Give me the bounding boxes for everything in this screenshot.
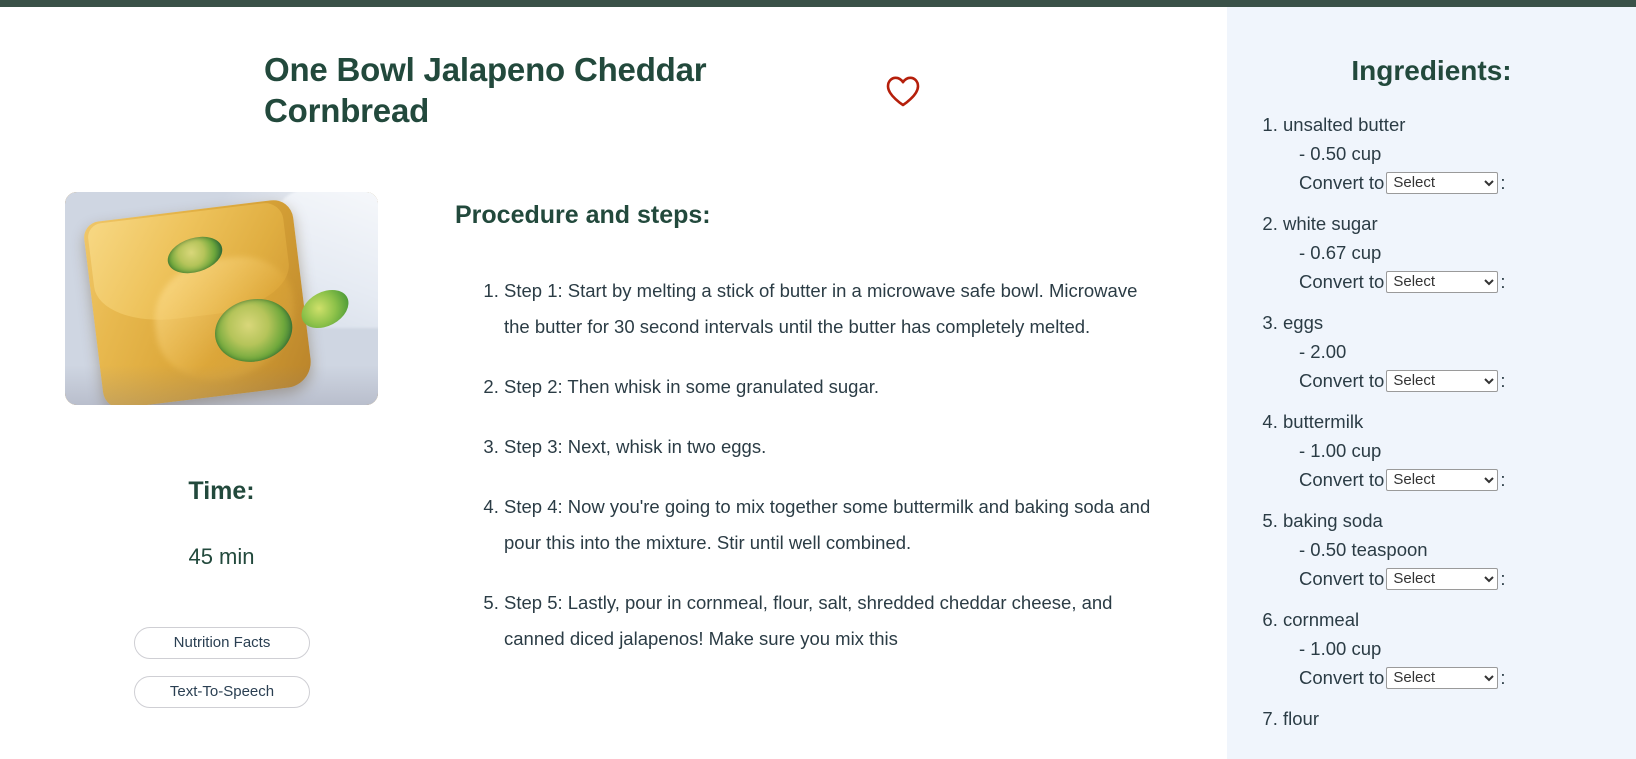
convert-to-label: Convert to <box>1299 271 1384 292</box>
ingredient-name: baking soda <box>1283 510 1383 531</box>
ingredients-heading: Ingredients: <box>1227 55 1636 87</box>
procedure-step: Step 3: Next, whisk in two eggs. <box>504 429 1156 465</box>
procedure-step: Step 2: Then whisk in some granulated su… <box>504 369 1156 405</box>
top-accent-bar <box>0 0 1636 7</box>
unit-convert-select[interactable]: Select <box>1386 568 1498 590</box>
procedure-steps-list: Step 1: Start by melting a stick of butt… <box>476 273 1156 681</box>
procedure-step: Step 4: Now you're going to mix together… <box>504 489 1156 561</box>
time-label: Time: <box>65 477 378 506</box>
ingredient-name: buttermilk <box>1283 411 1363 432</box>
procedure-heading: Procedure and steps: <box>455 201 711 230</box>
nutrition-facts-button[interactable]: Nutrition Facts <box>134 627 310 659</box>
ingredient-amount: - 0.67 cup <box>1283 238 1636 267</box>
ingredient-name: eggs <box>1283 312 1323 333</box>
ingredient-item: cornmeal- 1.00 cupConvert toSelect: <box>1283 605 1636 692</box>
ingredient-item: flour <box>1283 704 1636 733</box>
ingredients-sidebar: Ingredients: unsalted butter- 0.50 cupCo… <box>1227 7 1636 759</box>
convert-to-label: Convert to <box>1299 568 1384 589</box>
convert-suffix: : <box>1500 469 1505 490</box>
ingredient-item: baking soda- 0.50 teaspoonConvert toSele… <box>1283 506 1636 593</box>
heart-outline-icon[interactable] <box>884 73 922 111</box>
ingredient-name: cornmeal <box>1283 609 1359 630</box>
convert-suffix: : <box>1500 370 1505 391</box>
ingredient-item: unsalted butter- 0.50 cupConvert toSelec… <box>1283 110 1636 197</box>
convert-row: Convert toSelect: <box>1283 564 1636 593</box>
convert-to-label: Convert to <box>1299 469 1384 490</box>
procedure-step: Step 5: Lastly, pour in cornmeal, flour,… <box>504 585 1156 657</box>
ingredient-amount: - 1.00 cup <box>1283 436 1636 465</box>
convert-to-label: Convert to <box>1299 370 1384 391</box>
convert-row: Convert toSelect: <box>1283 366 1636 395</box>
recipe-page: One Bowl Jalapeno Cheddar Cornbread Time… <box>0 0 1636 759</box>
ingredient-item: white sugar- 0.67 cupConvert toSelect: <box>1283 209 1636 296</box>
convert-row: Convert toSelect: <box>1283 267 1636 296</box>
ingredient-amount: - 1.00 cup <box>1283 634 1636 663</box>
ingredient-amount: - 0.50 cup <box>1283 139 1636 168</box>
unit-convert-select[interactable]: Select <box>1386 667 1498 689</box>
unit-convert-select[interactable]: Select <box>1386 172 1498 194</box>
convert-row: Convert toSelect: <box>1283 465 1636 494</box>
unit-convert-select[interactable]: Select <box>1386 370 1498 392</box>
ingredient-item: buttermilk- 1.00 cupConvert toSelect: <box>1283 407 1636 494</box>
unit-convert-select[interactable]: Select <box>1386 469 1498 491</box>
convert-suffix: : <box>1500 172 1505 193</box>
ingredient-amount: - 0.50 teaspoon <box>1283 535 1636 564</box>
convert-to-label: Convert to <box>1299 667 1384 688</box>
convert-row: Convert toSelect: <box>1283 168 1636 197</box>
recipe-photo <box>65 192 378 405</box>
convert-suffix: : <box>1500 568 1505 589</box>
convert-suffix: : <box>1500 667 1505 688</box>
unit-convert-select[interactable]: Select <box>1386 271 1498 293</box>
main-content-area: One Bowl Jalapeno Cheddar Cornbread Time… <box>0 7 1227 759</box>
convert-to-label: Convert to <box>1299 172 1384 193</box>
ingredient-item: eggs- 2.00Convert toSelect: <box>1283 308 1636 395</box>
ingredient-name: flour <box>1283 708 1319 729</box>
time-value: 45 min <box>65 544 378 570</box>
ingredient-amount: - 2.00 <box>1283 337 1636 366</box>
ingredient-name: unsalted butter <box>1283 114 1405 135</box>
convert-suffix: : <box>1500 271 1505 292</box>
ingredient-name: white sugar <box>1283 213 1378 234</box>
convert-row: Convert toSelect: <box>1283 663 1636 692</box>
procedure-step: Step 1: Start by melting a stick of butt… <box>504 273 1156 345</box>
ingredients-list: unsalted butter- 0.50 cupConvert toSelec… <box>1251 110 1636 745</box>
text-to-speech-button[interactable]: Text-To-Speech <box>134 676 310 708</box>
page-title: One Bowl Jalapeno Cheddar Cornbread <box>264 49 824 131</box>
photo-shadow <box>65 365 378 405</box>
